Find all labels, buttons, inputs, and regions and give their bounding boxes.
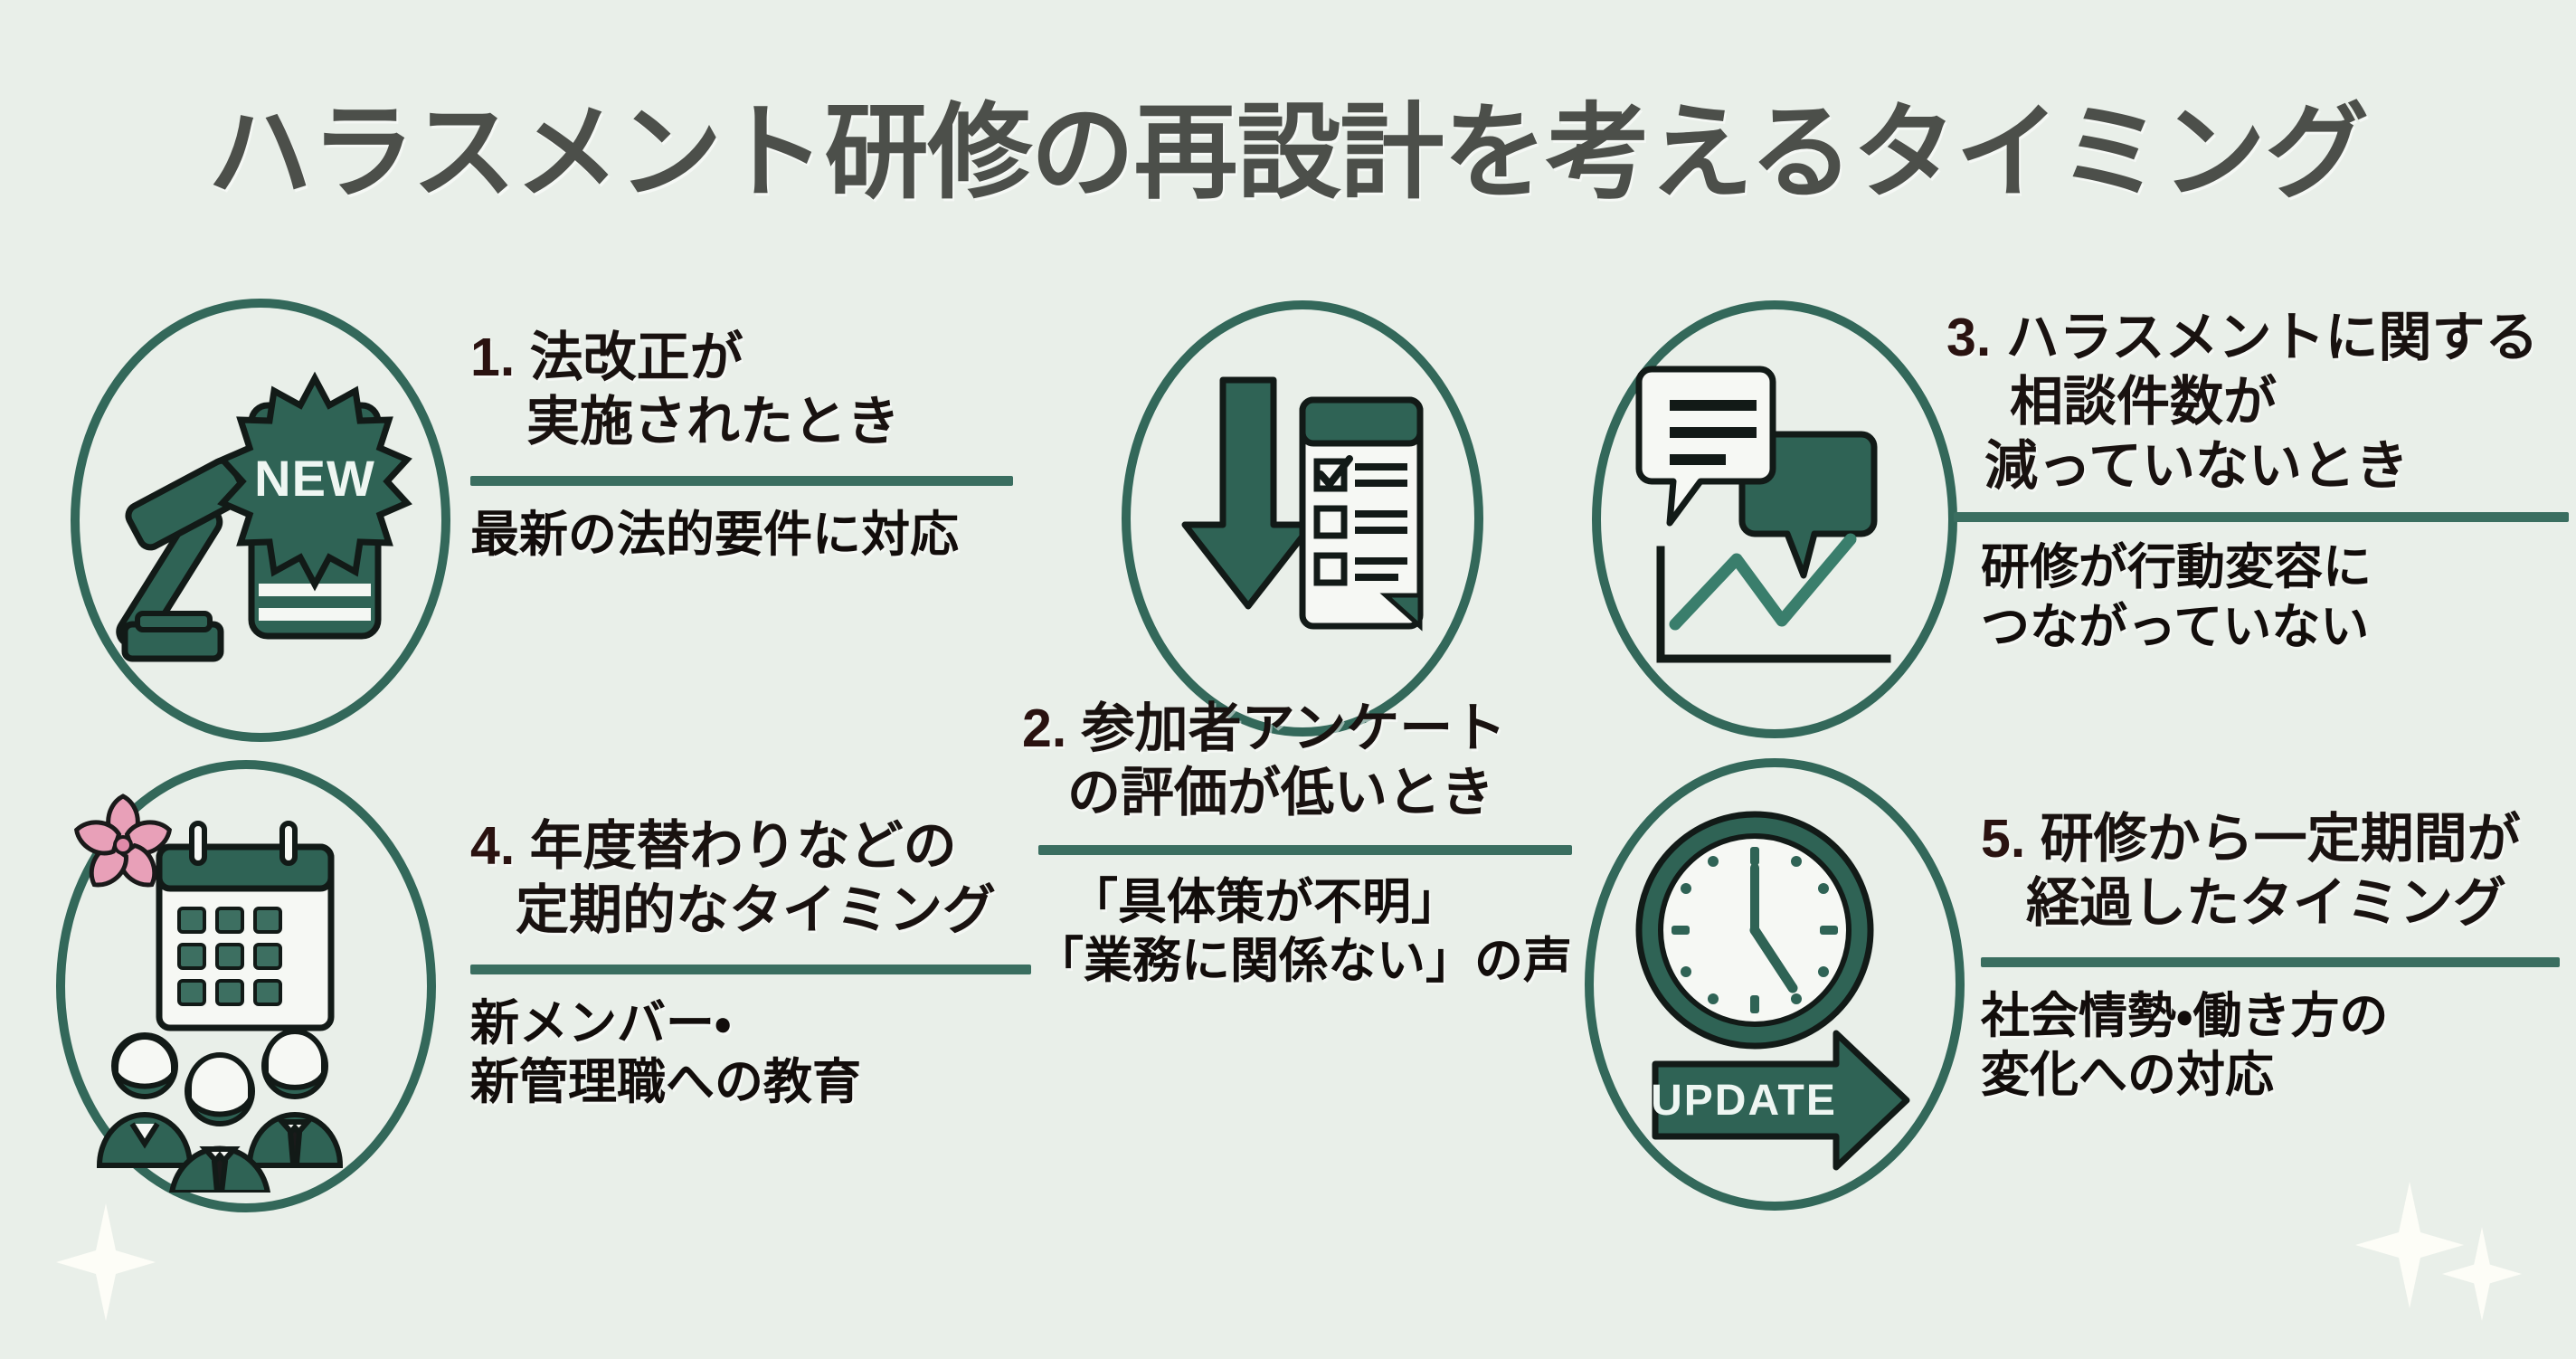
item-5-textblock: 5. 研修から一定期間が 経過したタイミング 社会情勢・働き方の 変化への対応: [1981, 807, 2576, 1106]
item-3-heading-text1: ハラスメントに関する: [2006, 308, 2539, 367]
svg-text:NEW: NEW: [254, 450, 375, 507]
item-4-heading-line2: 定期的なタイミング: [470, 879, 1103, 943]
item-3-heading-line3: 減っていないとき: [1954, 434, 2576, 499]
item-2-heading-text1: 参加者アンケート: [1082, 699, 1507, 758]
item-4-sub-line1: 新メンバー・: [470, 994, 1103, 1054]
item-5-sub-line1: 社会情勢・働き方の: [1981, 987, 2576, 1047]
item-4-number: 4.: [470, 816, 515, 876]
item-3-textblock: 3. ハラスメントに関する 相談件数が 減っていないとき 研修が行動変容に つな…: [1954, 306, 2576, 658]
item-5-heading-line1: 5. 研修から一定期間が: [1981, 807, 2576, 871]
item-3-rule: [1954, 512, 2569, 522]
item-1-textblock: 1. 法改正が 実施されたとき 最新の法的要件に対応: [470, 326, 1067, 565]
sparkle-icon-bottom-right-1: [2355, 1182, 2464, 1308]
item-2-number: 2.: [1022, 699, 1066, 758]
item-2-textblock: 2. 参加者アンケート の評価が低いとき 「具体策が不明」 「業務に関係ない」の…: [1022, 697, 1673, 992]
item-1-heading-line2: 実施されたとき: [470, 390, 1067, 454]
item-2-sub-line2: 「業務に関係ない」の声: [1022, 932, 1673, 992]
infographic-canvas: ハラスメント研修の再設計を考えるタイミング NEW: [0, 0, 2576, 1359]
sparkle-icon-bottom-right-2: [2442, 1227, 2522, 1321]
item-3-heading-line2: 相談件数が: [1954, 370, 2576, 434]
sparkle-icon-bottom-left: [56, 1203, 156, 1321]
page-title: ハラスメント研修の再設計を考えるタイミング: [0, 69, 2576, 219]
item-1-sub-line1: 最新の法的要件に対応: [470, 506, 1067, 565]
down-arrow-checklist-icon: [1167, 362, 1438, 670]
item-3-heading-line1: 3. ハラスメントに関する: [1946, 306, 2576, 370]
item-5-sub-line2: 変化への対応: [1981, 1046, 2576, 1106]
item-2-heading-line2: の評価が低いとき: [1022, 761, 1673, 825]
item-2-heading-line1: 2. 参加者アンケート: [1022, 697, 1673, 761]
gavel-book-new-icon: NEW: [99, 353, 425, 697]
item-4-textblock: 4. 年度替わりなどの 定期的なタイミング 新メンバー・ 新管理職への教育: [470, 814, 1103, 1113]
svg-text:UPDATE: UPDATE: [1651, 1077, 1837, 1125]
sakura-calendar-people-icon: [52, 767, 423, 1193]
item-1-heading-text1: 法改正が: [530, 328, 743, 387]
item-1-heading-line1: 1. 法改正が: [470, 326, 1067, 390]
item-1-number: 1.: [470, 328, 515, 387]
item-3-sub-line2: つながっていない: [1954, 598, 2576, 658]
item-5-number: 5.: [1981, 809, 2025, 869]
item-3-number: 3.: [1946, 308, 1991, 367]
item-2-sub-line1: 「具体策が不明」: [1022, 873, 1673, 933]
item-5-rule: [1981, 957, 2560, 967]
item-4-heading-text1: 年度替わりなどの: [530, 816, 957, 876]
item-4-heading-line1: 4. 年度替わりなどの: [470, 814, 1103, 879]
item-4-sub-line2: 新管理職への教育: [470, 1053, 1103, 1113]
speech-bubbles-declining-chart-icon: [1628, 353, 1936, 697]
item-5-heading-text1: 研修から一定期間が: [2041, 809, 2521, 869]
item-5-heading-line2: 経過したタイミング: [1981, 871, 2576, 936]
item-4-rule: [470, 965, 1031, 974]
item-3-sub-line1: 研修が行動変容に: [1954, 538, 2576, 598]
item-2-rule: [1038, 845, 1572, 855]
item-1-rule: [470, 476, 1013, 486]
clock-update-arrow-icon: UPDATE: [1619, 796, 1945, 1176]
